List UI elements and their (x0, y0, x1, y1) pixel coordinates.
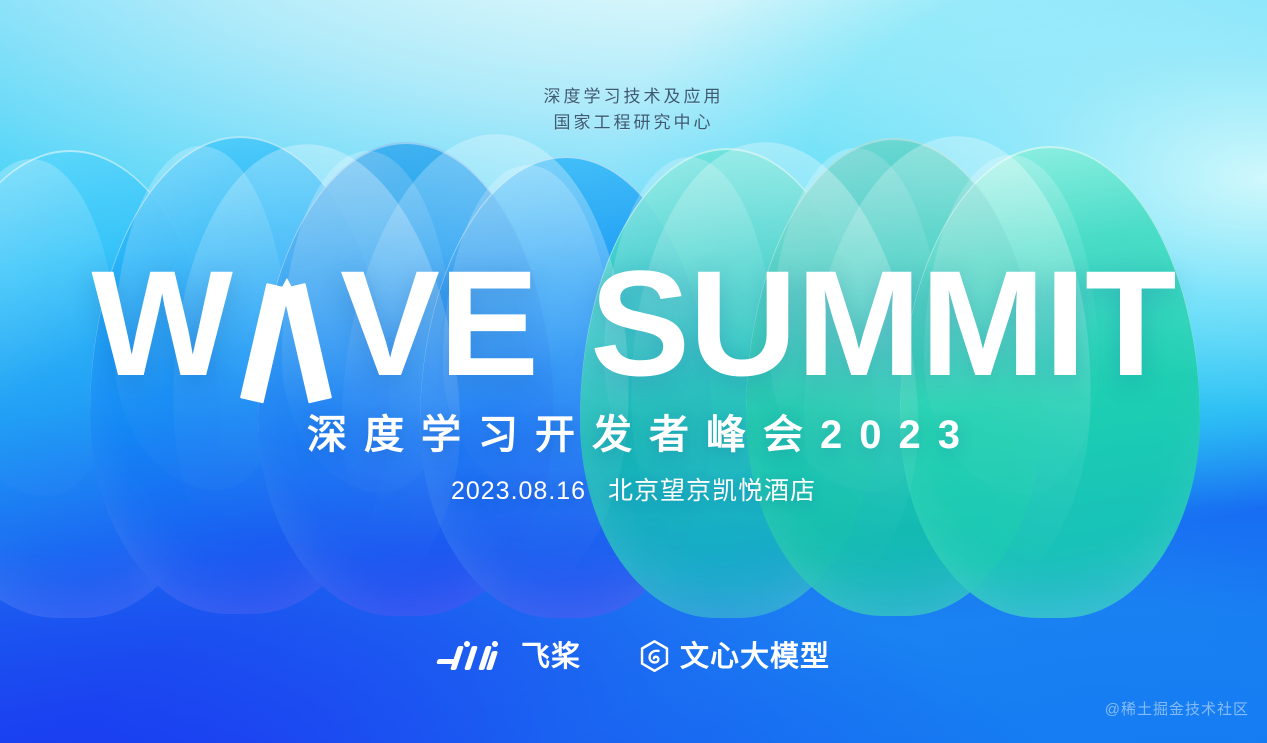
wenxin-logo-label: 文心大模型 (680, 641, 830, 673)
paddlepaddle-logo-label: 飞桨 (521, 641, 581, 673)
organizer-line-1: 深度学习技术及应用 (0, 84, 1267, 110)
poster-canvas: 深度学习技术及应用 国家工程研究中心 W VE SUMMIT 深度学习开发者峰会… (0, 0, 1267, 743)
watermark-text: @稀土掘金技术社区 (1105, 698, 1249, 719)
sponsor-logo-row: 飞桨 文心大模型 (0, 630, 1267, 684)
logotype-a-glyph (234, 280, 338, 398)
event-meta: 2023.08.16 北京望京凯悦酒店 (0, 472, 1267, 510)
logotype-ve: VE (340, 252, 538, 394)
logotype-w: W (91, 252, 232, 394)
organizer-block: 深度学习技术及应用 国家工程研究中心 (0, 84, 1267, 136)
logotype-word-summit: SUMMIT (590, 252, 1176, 394)
paddlepaddle-logo-mark (437, 642, 511, 672)
organizer-line-2: 国家工程研究中心 (0, 110, 1267, 136)
wenxin-hexagon-icon (639, 640, 670, 674)
event-venue: 北京望京凯悦酒店 (608, 477, 816, 505)
poster-content: 深度学习技术及应用 国家工程研究中心 W VE SUMMIT 深度学习开发者峰会… (0, 0, 1267, 743)
paddlepaddle-logo[interactable]: 飞桨 (437, 641, 581, 673)
event-date: 2023.08.16 (451, 477, 586, 505)
logotype-word-wave: W VE (91, 252, 538, 394)
event-subtitle: 深度学习开发者峰会2023 (0, 408, 1267, 462)
wenxin-logo[interactable]: 文心大模型 (639, 640, 830, 674)
event-logotype: W VE SUMMIT (0, 252, 1267, 394)
